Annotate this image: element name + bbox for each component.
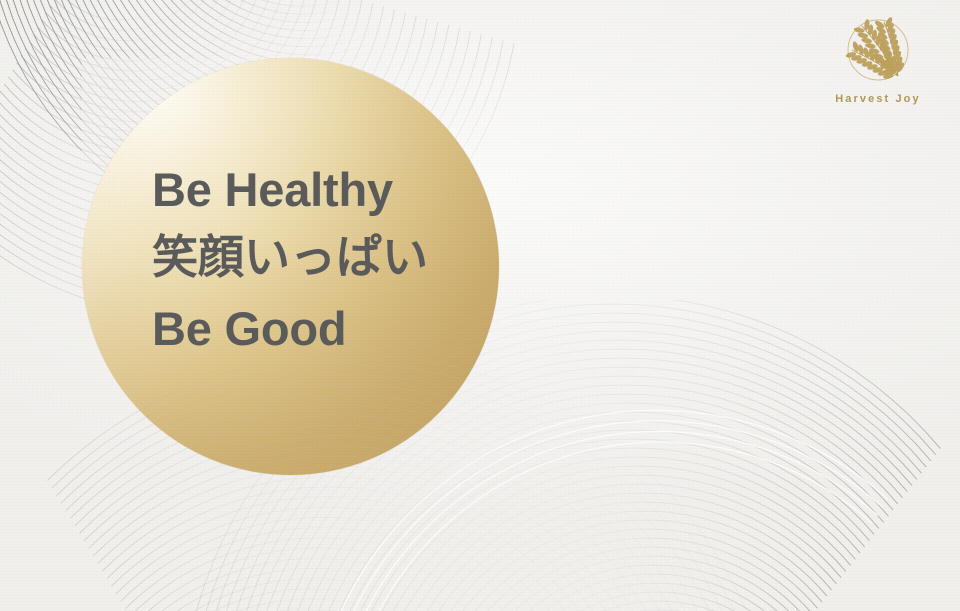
brand-wordmark: Harvest Joy bbox=[818, 93, 938, 105]
poster-canvas: Be Healthy 笑顔いっぱい Be Good bbox=[0, 0, 960, 611]
headline-block: Be Healthy 笑顔いっぱい Be Good bbox=[152, 160, 482, 364]
brand-logo: Harvest Joy bbox=[818, 14, 938, 105]
headline-line-japanese: 笑顔いっぱい bbox=[152, 220, 482, 294]
headline-line-3: Be Good bbox=[152, 294, 482, 364]
headline-line-1: Be Healthy bbox=[152, 160, 482, 220]
wheat-icon bbox=[836, 14, 920, 90]
